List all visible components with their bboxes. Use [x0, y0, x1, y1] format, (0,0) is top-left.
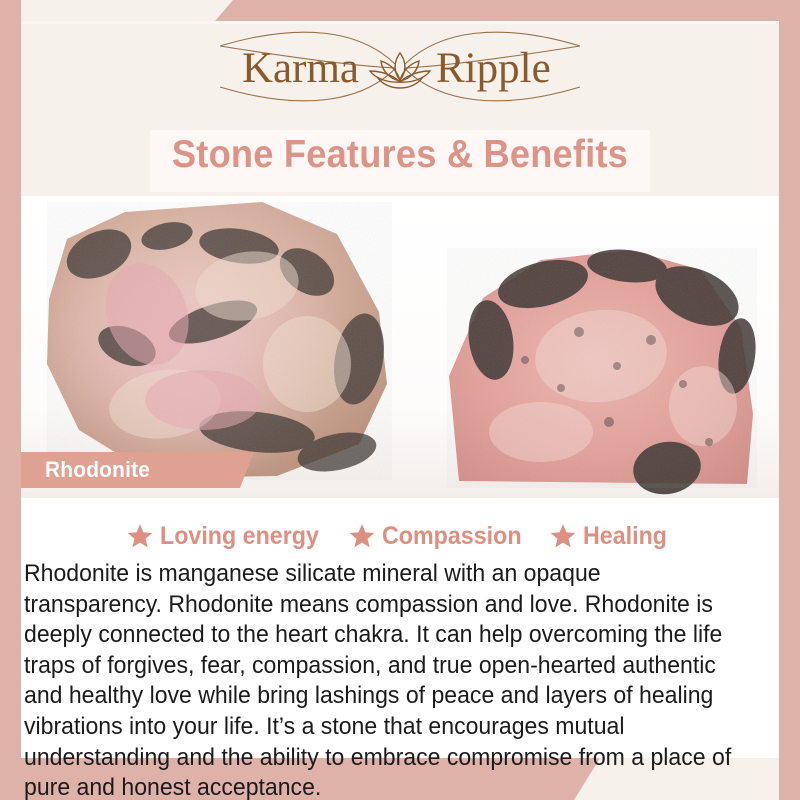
- benefit-label-3: Healing: [583, 522, 667, 551]
- lotus-icon: [370, 53, 430, 88]
- benefit-item-3: Healing: [550, 522, 673, 551]
- benefit-item-1: Loving energy: [127, 522, 331, 551]
- frame-right-bar: [779, 0, 800, 800]
- frame-top-bar: [215, 0, 800, 21]
- stone-photo: Rhodonite: [21, 196, 779, 498]
- page-title: Stone Features & Benefits: [28, 133, 772, 177]
- stone-info-card: Karma Ripple Stone Features & Benefits: [0, 0, 800, 800]
- brand-name-right: Ripple: [436, 45, 551, 92]
- benefits-row: Loving energy Compassion Healing: [21, 519, 779, 553]
- benefit-label-2: Compassion: [382, 522, 522, 551]
- benefit-label-1: Loving energy: [160, 522, 319, 551]
- star-icon: [127, 523, 153, 549]
- frame-left-bar: [0, 0, 21, 790]
- brand-name-left: Karma: [242, 45, 359, 92]
- brand-logo-svg: Karma Ripple: [180, 24, 620, 110]
- star-icon: [349, 523, 375, 549]
- benefit-item-2: Compassion: [349, 522, 532, 551]
- stone-name-label: Rhodonite: [45, 457, 150, 483]
- description-paragraph: Rhodonite is manganese silicate mineral …: [24, 559, 738, 800]
- brand-logo: Karma Ripple: [0, 24, 800, 110]
- stone-name-banner: Rhodonite: [21, 452, 254, 488]
- rhodonite-stone-left: [21, 196, 427, 494]
- rhodonite-stone-right: [421, 236, 779, 498]
- star-icon: [550, 523, 576, 549]
